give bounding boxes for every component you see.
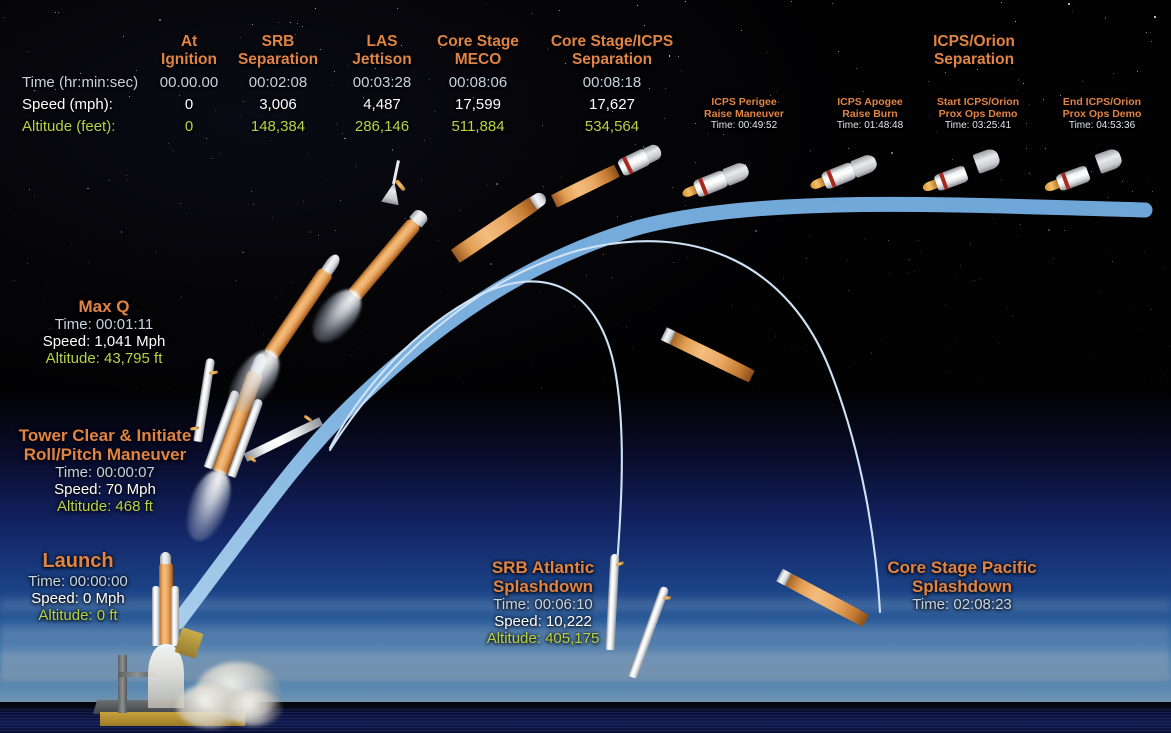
event-line1: End ICPS/Orion: [1036, 96, 1168, 108]
callout-altitude: Altitude: 0 ft: [0, 607, 156, 624]
las-motor-nozzle: [395, 179, 406, 192]
orion-capsule-7: [850, 152, 879, 178]
table-header-core-stage-meco: Core Stage MECO: [416, 33, 540, 69]
srb-right-on-pad: [171, 586, 179, 646]
srb-fin-2: [663, 596, 671, 600]
callout-time: Time: 00:06:10: [458, 596, 628, 613]
cell-altitude-core-icps-sep: 534,564: [533, 118, 691, 135]
cell-time-core-stage-meco: 00:08:06: [416, 74, 540, 91]
callout-time: Time: 00:00:07: [4, 464, 206, 481]
header-line1: SRB: [262, 33, 295, 50]
table-header-core-stage-icps-separation: Core Stage/ICPS Separation: [533, 33, 691, 69]
callout-speed: Speed: 0 Mph: [0, 590, 156, 607]
callout-altitude: Altitude: 468 ft: [4, 498, 206, 515]
callout-title-line1: Tower Clear & Initiate: [4, 426, 206, 445]
callout-altitude: Altitude: 43,795 ft: [8, 350, 200, 367]
icps-stage-8: [933, 165, 969, 192]
callout-title: Max Q: [8, 297, 200, 316]
event-time: Time: 03:25:41: [912, 120, 1044, 132]
orion-capsule-9: [1095, 147, 1124, 174]
table-header-icps-orion-separation: ICPS/Orion Separation: [895, 33, 1053, 69]
event-line2: Raise Maneuver: [682, 108, 806, 120]
callout-time: Time: 02:08:23: [862, 596, 1062, 613]
callout-speed: Speed: 10,222: [458, 613, 628, 630]
mission-profile-infographic: At Ignition SRB Separation LAS Jettison …: [0, 0, 1171, 733]
cell-speed-srb-separation: 3,006: [218, 96, 338, 113]
callout-title-line2: Roll/Pitch Maneuver: [4, 445, 206, 464]
header-line1: ICPS/Orion: [933, 33, 1015, 50]
cell-speed-core-stage-meco: 17,599: [416, 96, 540, 113]
event-prox-ops-start: Start ICPS/Orion Prox Ops Demo Time: 03:…: [912, 96, 1044, 132]
header-line2: Separation: [572, 51, 652, 68]
cell-altitude-core-stage-meco: 511,884: [416, 118, 540, 135]
event-line2: Prox Ops Demo: [1036, 108, 1168, 120]
cell-time-core-icps-sep: 00:08:18: [533, 74, 691, 91]
cell-time-srb-separation: 00:02:08: [218, 74, 338, 91]
event-icps-perigee-raise: ICPS Perigee Raise Maneuver Time: 00:49:…: [682, 96, 806, 132]
header-line1: At: [181, 33, 197, 50]
callout-launch: Launch Time: 00:00:00 Speed: 0 Mph Altit…: [0, 550, 156, 624]
callout-time: Time: 00:00:00: [0, 573, 156, 590]
callout-srb-splashdown: SRB Atlantic Splashdown Time: 00:06:10 S…: [458, 558, 628, 647]
callout-core-stage-splashdown: Core Stage Pacific Splashdown Time: 02:0…: [862, 558, 1062, 613]
event-time: Time: 04:53:36: [1036, 120, 1168, 132]
callout-title-line2: Splashdown: [862, 577, 1062, 596]
callout-tower-clear: Tower Clear & Initiate Roll/Pitch Maneuv…: [4, 426, 206, 515]
orion-capsule-6: [722, 160, 751, 186]
header-line1: LAS: [367, 33, 398, 50]
event-prox-ops-end: End ICPS/Orion Prox Ops Demo Time: 04:53…: [1036, 96, 1168, 132]
row-label-speed: Speed (mph):: [22, 96, 113, 113]
pad-service-tower: [118, 655, 127, 713]
header-line2: Separation: [238, 51, 318, 68]
header-line2: Ignition: [161, 51, 217, 68]
callout-title-line1: SRB Atlantic: [458, 558, 628, 577]
cell-speed-core-icps-sep: 17,627: [533, 96, 691, 113]
header-line2: MECO: [455, 51, 502, 68]
table-header-srb-separation: SRB Separation: [218, 33, 338, 69]
callout-title-line1: Core Stage Pacific: [862, 558, 1062, 577]
row-label-altitude: Altitude (feet):: [22, 118, 115, 135]
icps-stage-9: [1055, 165, 1091, 192]
callout-title-line2: Splashdown: [458, 577, 628, 596]
callout-speed: Speed: 70 Mph: [4, 481, 206, 498]
event-line2: Prox Ops Demo: [912, 108, 1044, 120]
header-line2: Jettison: [352, 51, 411, 68]
callout-max-q: Max Q Time: 00:01:11 Speed: 1,041 Mph Al…: [8, 297, 200, 367]
event-line1: Start ICPS/Orion: [912, 96, 1044, 108]
orion-capsule-8: [973, 147, 1002, 174]
header-line1: Core Stage/ICPS: [551, 33, 673, 50]
header-line2: Separation: [934, 51, 1014, 68]
callout-altitude: Altitude: 405,175: [458, 630, 628, 647]
callout-title: Launch: [0, 550, 156, 573]
launch-exhaust-plume-c: [226, 690, 282, 726]
orion-on-pad: [160, 552, 171, 564]
header-line1: Core Stage: [437, 33, 519, 50]
cell-altitude-srb-separation: 148,384: [218, 118, 338, 135]
core-stage-5: [551, 164, 620, 207]
callout-speed: Speed: 1,041 Mph: [8, 333, 200, 350]
event-time: Time: 00:49:52: [682, 120, 806, 132]
row-label-time: Time (hr:min:sec): [22, 74, 138, 91]
event-line1: ICPS Perigee: [682, 96, 806, 108]
callout-time: Time: 00:01:11: [8, 316, 200, 333]
